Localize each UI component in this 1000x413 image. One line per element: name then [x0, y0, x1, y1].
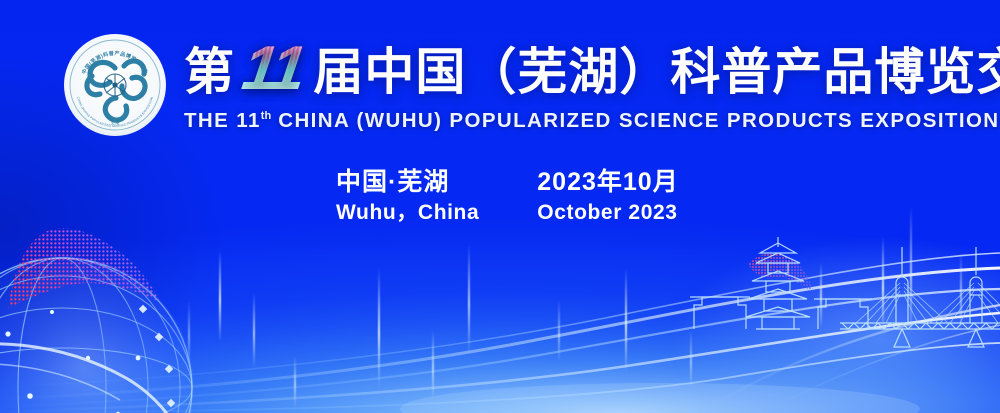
title-en-ordinal: th	[261, 110, 271, 122]
exposition-logo-icon: 中国(芜湖)科普产品博览交易会 CHINA (WUHU) POPULARIZED…	[62, 32, 168, 138]
pink-mesh-ribbon-left	[2, 222, 162, 312]
emblem-center-mark: 芜湖	[111, 119, 119, 126]
location-column: 中国·芜湖 Wuhu，China	[336, 168, 479, 225]
light-streak	[294, 356, 296, 408]
light-streak	[468, 244, 470, 354]
light-streak	[432, 330, 434, 400]
light-streak	[253, 292, 255, 368]
edition-number: 11	[239, 38, 308, 100]
event-info-block: 中国·芜湖 Wuhu，China 2023年10月 October 2023	[336, 168, 679, 225]
exposition-banner: 中国(芜湖)科普产品博览交易会 CHINA (WUHU) POPULARIZED…	[0, 0, 1000, 413]
banner-header: 中国(芜湖)科普产品博览交易会 CHINA (WUHU) POPULARIZED…	[62, 32, 1000, 138]
light-streak	[219, 250, 221, 342]
title-cn-prefix: 第	[184, 47, 235, 97]
title-english: THE 11th CHINA (WUHU) POPULARIZED SCIENC…	[184, 109, 1000, 133]
title-block: 第 11 届中国（芜湖）科普产品博览交易会 THE 11th CHINA (WU…	[184, 32, 1000, 133]
wuhu-skyline-graphic	[690, 231, 1000, 361]
light-streak	[378, 268, 380, 388]
title-chinese: 第 11 届中国（芜湖）科普产品博览交易会	[184, 38, 1000, 100]
title-cn-suffix: 届中国（芜湖）科普产品博览交易会	[313, 47, 1000, 97]
date-cn: 2023年10月	[537, 168, 678, 198]
location-cn: 中国·芜湖	[336, 168, 479, 198]
light-streak	[558, 300, 560, 362]
light-streak	[625, 268, 627, 372]
title-en-prefix: THE 11	[184, 109, 261, 132]
date-column: 2023年10月 October 2023	[537, 168, 678, 225]
title-en-suffix: CHINA (WUHU) POPULARIZED SCIENCE PRODUCT…	[271, 109, 999, 132]
location-en: Wuhu，China	[336, 200, 479, 225]
date-en: October 2023	[537, 200, 678, 225]
